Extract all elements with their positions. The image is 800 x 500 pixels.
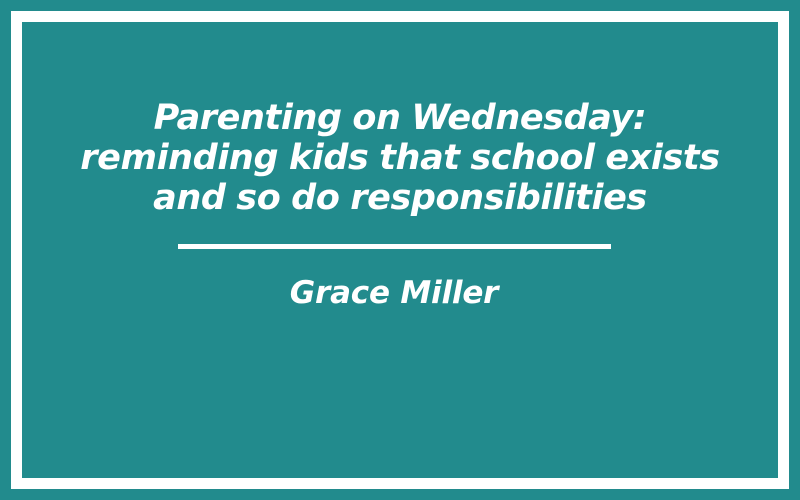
card-border-frame: Parenting on Wednesday: reminding kids t… bbox=[11, 11, 789, 489]
quote-card: Parenting on Wednesday: reminding kids t… bbox=[0, 0, 800, 500]
card-content: Parenting on Wednesday: reminding kids t… bbox=[22, 22, 778, 478]
author-name: Grace Miller bbox=[290, 274, 499, 312]
title-divider bbox=[178, 244, 611, 249]
page-title: Parenting on Wednesday: reminding kids t… bbox=[70, 98, 730, 218]
